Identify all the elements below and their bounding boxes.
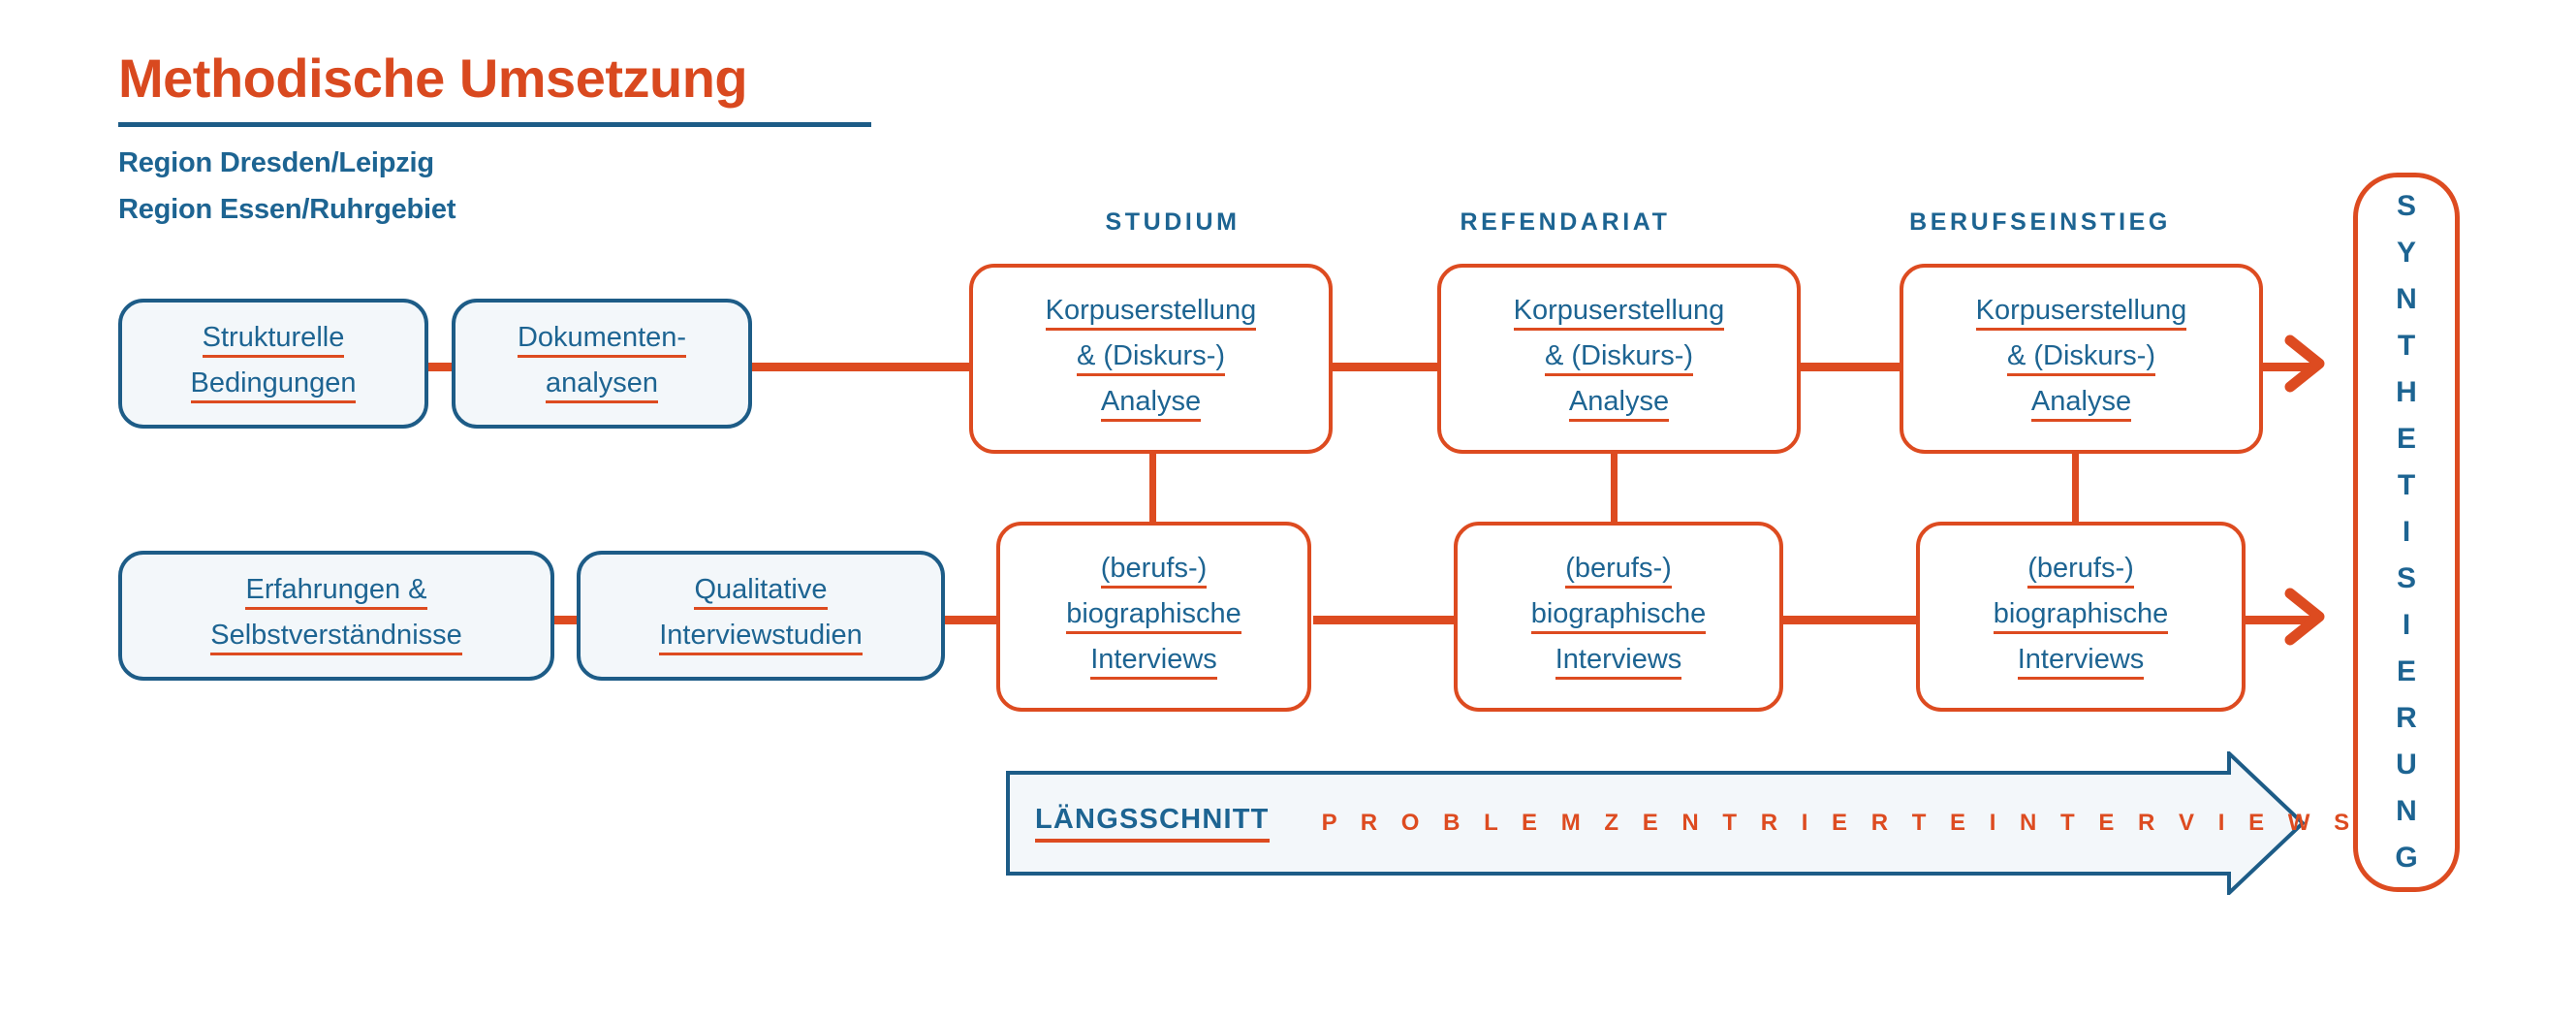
node-korpuserstellung-refendariat[interactable]: Korpuserstellung & (Diskurs-) Analyse	[1437, 264, 1801, 454]
synthesis-letter: I	[2403, 611, 2410, 640]
connector-studium-to-refendariat-top	[1328, 363, 1454, 371]
node-line: Interviewstudien	[659, 622, 863, 655]
node-biographische-interviews-berufseinstieg[interactable]: (berufs-) biographische Interviews	[1916, 522, 2246, 712]
synthesis-letter: E	[2397, 657, 2416, 686]
node-line: Erfahrungen &	[245, 576, 426, 610]
synthesis-letter: T	[2398, 332, 2415, 361]
synthesis-letter: N	[2396, 797, 2417, 826]
synthesis-letter: S	[2397, 564, 2416, 593]
connector-vertical-berufseinstieg	[2072, 446, 2079, 531]
node-line: Analyse	[1569, 388, 1669, 422]
node-line: Bedingungen	[191, 369, 357, 403]
connector-qualitative-to-studium-bottom	[940, 616, 998, 624]
subtitle-region-essen-ruhrgebiet: Region Essen/Ruhrgebiet	[118, 194, 456, 226]
node-line: analysen	[546, 369, 658, 403]
node-line: Interviews	[1090, 646, 1217, 680]
synthesis-letter: H	[2396, 378, 2417, 407]
node-line: Korpuserstellung	[1046, 297, 1257, 331]
node-dokumentenanalysen[interactable]: Dokumenten- analysen	[452, 299, 752, 429]
node-line: (berufs-)	[1565, 555, 1672, 589]
node-line: & (Diskurs-)	[1077, 342, 1225, 376]
node-line: Interviews	[2018, 646, 2145, 680]
connector-refendariat-to-berufseinstieg-bottom	[1778, 616, 1919, 624]
stage-heading-studium: STUDIUM	[1018, 208, 1328, 237]
node-line: biographische	[1994, 600, 2169, 634]
title-underline-rule	[118, 122, 871, 127]
node-biographische-interviews-refendariat[interactable]: (berufs-) biographische Interviews	[1454, 522, 1783, 712]
node-biographische-interviews-studium[interactable]: (berufs-) biographische Interviews	[996, 522, 1311, 712]
node-line: Interviews	[1555, 646, 1682, 680]
node-line: Qualitative	[694, 576, 827, 610]
node-line: & (Diskurs-)	[1545, 342, 1693, 376]
synthesis-pill[interactable]: S Y N T H E T I S I E R U N G	[2353, 173, 2460, 892]
synthesis-letter: Y	[2397, 239, 2416, 268]
synthesis-letter: E	[2397, 425, 2416, 454]
arrow-head-top-icon	[2284, 335, 2331, 398]
node-qualitative-interviewstudien[interactable]: Qualitative Interviewstudien	[577, 551, 945, 681]
synthesis-letter: N	[2396, 285, 2417, 314]
node-line: (berufs-)	[1101, 555, 1208, 589]
node-korpuserstellung-studium[interactable]: Korpuserstellung & (Diskurs-) Analyse	[969, 264, 1333, 454]
node-strukturelle-bedingungen[interactable]: Strukturelle Bedingungen	[118, 299, 428, 429]
connector-studium-to-refendariat-bottom	[1313, 616, 1454, 624]
node-erfahrungen-selbstverstaendnisse[interactable]: Erfahrungen & Selbstverständnisse	[118, 551, 554, 681]
synthesis-letter: R	[2396, 704, 2417, 733]
synthesis-letter: I	[2403, 518, 2410, 547]
node-line: Analyse	[1101, 388, 1201, 422]
node-line: Korpuserstellung	[1514, 297, 1725, 331]
node-line: Dokumenten-	[518, 324, 686, 358]
synthesis-letter: G	[2395, 844, 2417, 873]
node-line: Strukturelle	[203, 324, 345, 358]
arrow-head-bottom-icon	[2284, 588, 2331, 651]
diagram-canvas: Methodische Umsetzung Region Dresden/Lei…	[0, 0, 2576, 1020]
node-line: Analyse	[2031, 388, 2131, 422]
page-title: Methodische Umsetzung	[118, 50, 747, 108]
subtitle-region-dresden-leipzig: Region Dresden/Leipzig	[118, 147, 434, 179]
node-line: (berufs-)	[2027, 555, 2134, 589]
stage-heading-berufseinstieg: BERUFSEINSTIEG	[1846, 208, 2234, 237]
connector-refendariat-to-berufseinstieg-top	[1788, 363, 1914, 371]
stage-heading-refendariat: REFENDARIAT	[1381, 208, 1749, 237]
connector-vertical-refendariat	[1611, 446, 1618, 531]
synthesis-letter: S	[2397, 192, 2416, 221]
synthesis-letter: U	[2396, 750, 2417, 780]
node-line: & (Diskurs-)	[2007, 342, 2155, 376]
connector-dokumenten-to-studium-top	[746, 363, 969, 371]
node-korpuserstellung-berufseinstieg[interactable]: Korpuserstellung & (Diskurs-) Analyse	[1900, 264, 2263, 454]
longitudinal-banner[interactable]: LÄNGSSCHNITT P R O B L E M Z E N T R I E…	[1006, 751, 2305, 895]
connector-vertical-studium	[1149, 446, 1156, 531]
node-line: biographische	[1531, 600, 1707, 634]
node-line: Selbstverständnisse	[210, 622, 462, 655]
node-line: Korpuserstellung	[1976, 297, 2187, 331]
synthesis-letter: T	[2398, 471, 2415, 500]
node-line: biographische	[1066, 600, 1241, 634]
